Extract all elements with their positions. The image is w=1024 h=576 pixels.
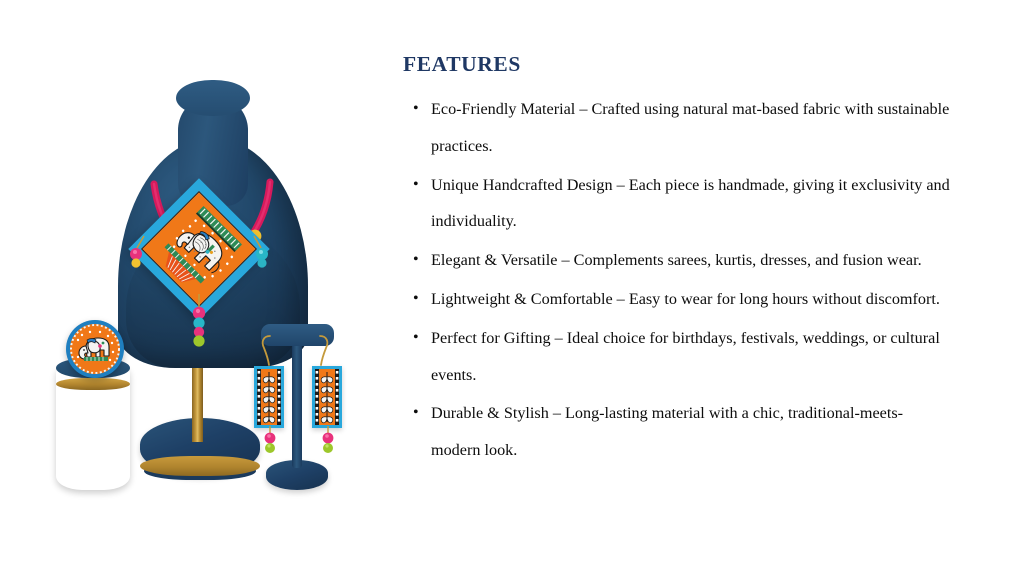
- earring-right-bead-drop: [318, 426, 338, 460]
- pendant-left-bead-drop: [124, 234, 156, 282]
- feature-item: Eco-Friendly Material – Crafted using na…: [403, 91, 951, 165]
- earrings-t-stand-display: [248, 318, 348, 498]
- earring-left-bead-drop: [260, 426, 280, 460]
- brooch-cylinder-display: [52, 320, 138, 500]
- features-heading: FEATURES: [403, 52, 964, 77]
- pendant-face: [141, 191, 257, 307]
- features-list: Eco-Friendly Material – Crafted using na…: [403, 91, 964, 469]
- product-photo: [0, 0, 395, 576]
- features-text-pane: FEATURES Eco-Friendly Material – Crafted…: [395, 0, 1024, 576]
- earring-right-hook-icon: [310, 332, 332, 368]
- necklace-pendant: [140, 190, 258, 308]
- earring-right-face: [315, 369, 339, 425]
- brooch-elephant-motif-icon: [70, 324, 120, 374]
- round-brooch: [66, 320, 124, 378]
- earring-right-leaf-motif-icon: [315, 369, 339, 425]
- earring-right-panel: [312, 366, 342, 428]
- bust-base-gold-trim: [140, 456, 260, 476]
- pendant-bottom-bead-drop: [184, 294, 214, 356]
- feature-item: Unique Handcrafted Design – Each piece i…: [403, 167, 951, 241]
- earring-left-hook-icon: [258, 332, 280, 368]
- product-image-pane: [0, 0, 395, 576]
- cylinder-gold-trim: [56, 378, 130, 390]
- feature-item: Durable & Stylish – Long-lasting materia…: [403, 395, 951, 469]
- earring-left-face: [257, 369, 281, 425]
- earring-left-leaf-motif-icon: [257, 369, 281, 425]
- earring-right: [312, 332, 342, 452]
- elephant-motif-icon: [142, 192, 255, 305]
- features-slide: FEATURES Eco-Friendly Material – Crafted…: [0, 0, 1024, 576]
- feature-item: Lightweight & Comfortable – Easy to wear…: [403, 281, 951, 318]
- feature-item: Perfect for Gifting – Ideal choice for b…: [403, 320, 951, 394]
- earring-left: [254, 332, 284, 452]
- t-stand-pole: [292, 342, 302, 468]
- earring-left-panel: [254, 366, 284, 428]
- brooch-face: [70, 324, 120, 374]
- pendant-right-bead-drop: [242, 234, 274, 282]
- feature-item: Elegant & Versatile – Complements sarees…: [403, 242, 951, 279]
